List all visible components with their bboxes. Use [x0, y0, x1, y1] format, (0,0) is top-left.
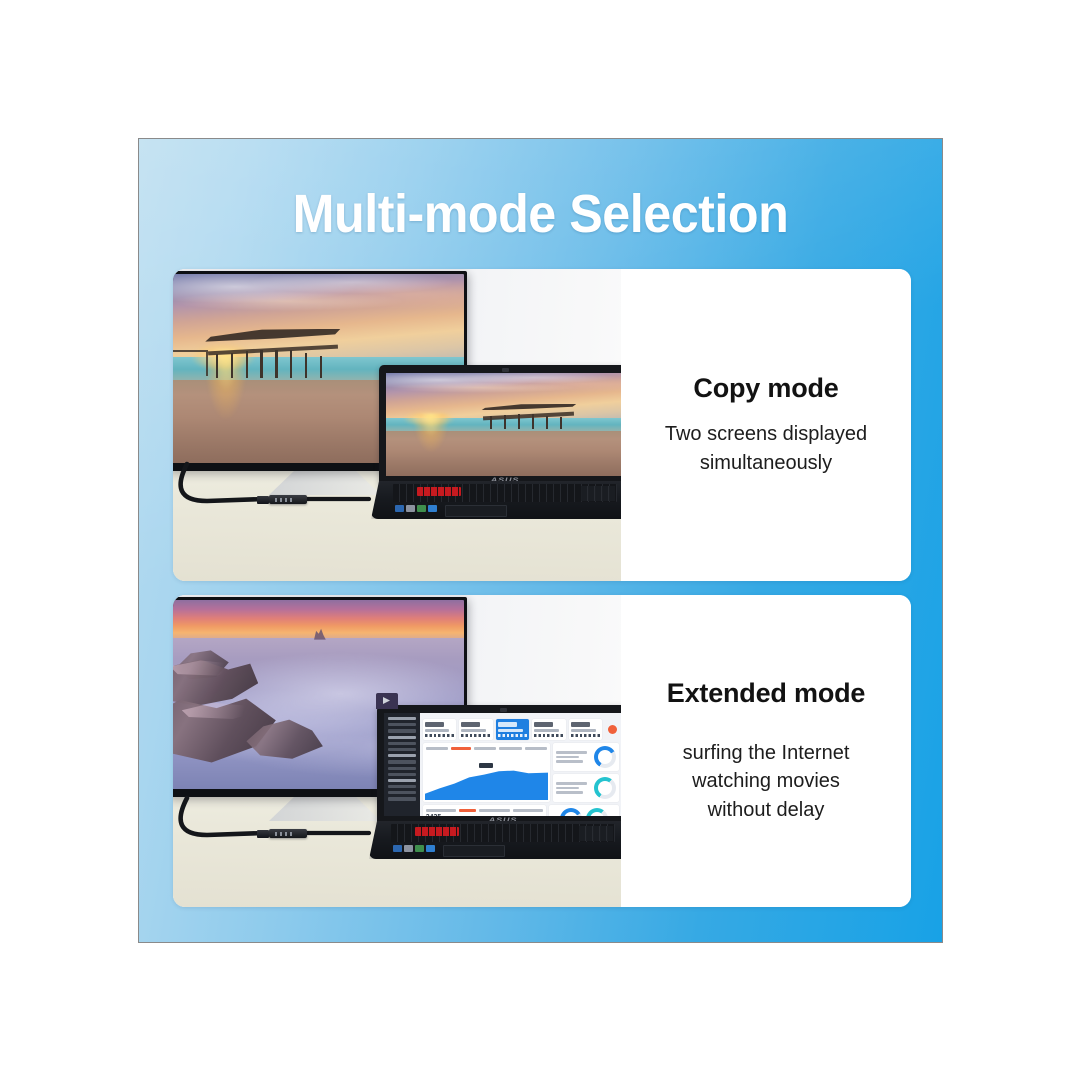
page-title: Multi-mode Selection: [167, 183, 914, 245]
extended-mode-text: Extended mode surfing the Internet watch…: [621, 595, 911, 907]
kpi-card-selected[interactable]: [496, 719, 530, 740]
hdmi-plug: [257, 830, 269, 838]
pier-structure: [481, 404, 576, 429]
pier-side-frame: [173, 350, 208, 376]
dashboard-main: 3435: [420, 713, 621, 816]
dashboard-middle-row: [423, 743, 619, 802]
metric-widget[interactable]: [553, 743, 619, 771]
mode-description: surfing the Internet watching movies wit…: [683, 739, 850, 824]
mode-title: Copy mode: [693, 373, 838, 404]
metric-widget[interactable]: [553, 774, 619, 802]
screen-side-tab-icon: [376, 693, 398, 709]
dashboard-bottom-row: 3435: [423, 805, 619, 816]
laptop: 3435: [369, 705, 621, 855]
chart-header: [426, 746, 548, 750]
laptop-screen: [386, 373, 621, 476]
mode-description: Two screens displayed simultaneously: [665, 420, 867, 477]
chart-tooltip: [479, 763, 493, 768]
gauge-chart: [594, 746, 616, 768]
numpad: [579, 826, 613, 841]
kpi-card[interactable]: [532, 719, 566, 740]
gauge-chart: [586, 808, 608, 816]
area-series-blue: [425, 766, 549, 800]
donut-widgets[interactable]: [549, 805, 619, 816]
promo-banner: Multi-mode Selection: [138, 138, 943, 943]
spec-stickers: [395, 505, 437, 512]
backlit-wasd-keys: [415, 827, 459, 836]
laptop-lid: 3435: [377, 705, 621, 825]
backlit-wasd-keys: [417, 487, 461, 496]
bar-chart-value: 3435: [426, 814, 544, 816]
kpi-row: [423, 719, 619, 740]
pier-structure: [205, 329, 340, 378]
pier-pilings: [211, 340, 335, 378]
copy-mode-text: Copy mode Two screens displayed simultan…: [621, 269, 911, 581]
laptop-base: [371, 481, 621, 519]
spec-stickers: [393, 845, 435, 852]
gauge-chart: [594, 777, 616, 799]
pier-sunset-image-laptop: [386, 373, 621, 476]
mode-card-extended: 3435: [173, 595, 911, 907]
extended-mode-photo: 3435: [173, 595, 621, 907]
side-widgets: [553, 743, 619, 802]
mode-title: Extended mode: [667, 678, 865, 709]
chart-header: [426, 808, 544, 812]
laptop-base: [369, 821, 621, 859]
hdmi-adapter: [269, 829, 307, 838]
hdmi-plug: [257, 496, 269, 504]
analytics-dashboard: 3435: [384, 713, 621, 816]
hdmi-adapter: [269, 495, 307, 504]
area-chart[interactable]: [423, 743, 551, 802]
kpi-card[interactable]: [569, 719, 603, 740]
trackpad: [445, 505, 507, 517]
gauge-chart: [560, 808, 582, 816]
kpi-card[interactable]: [423, 719, 457, 740]
bar-chart[interactable]: 3435: [423, 805, 547, 816]
laptop: ASUS: [371, 365, 621, 515]
pier-pilings: [485, 409, 573, 428]
laptop-lid: ASUS: [379, 365, 621, 485]
laptop-screen: 3435: [384, 713, 621, 816]
mode-card-copy: ASUS Copy mode Two screens displayed sim…: [173, 269, 911, 581]
numpad: [581, 486, 615, 501]
dashboard-sidebar[interactable]: [384, 713, 420, 816]
sun-reflection: [405, 414, 457, 476]
alert-badge[interactable]: [605, 719, 619, 740]
copy-mode-photo: ASUS: [173, 269, 621, 581]
kpi-card[interactable]: [459, 719, 493, 740]
trackpad: [443, 845, 505, 857]
